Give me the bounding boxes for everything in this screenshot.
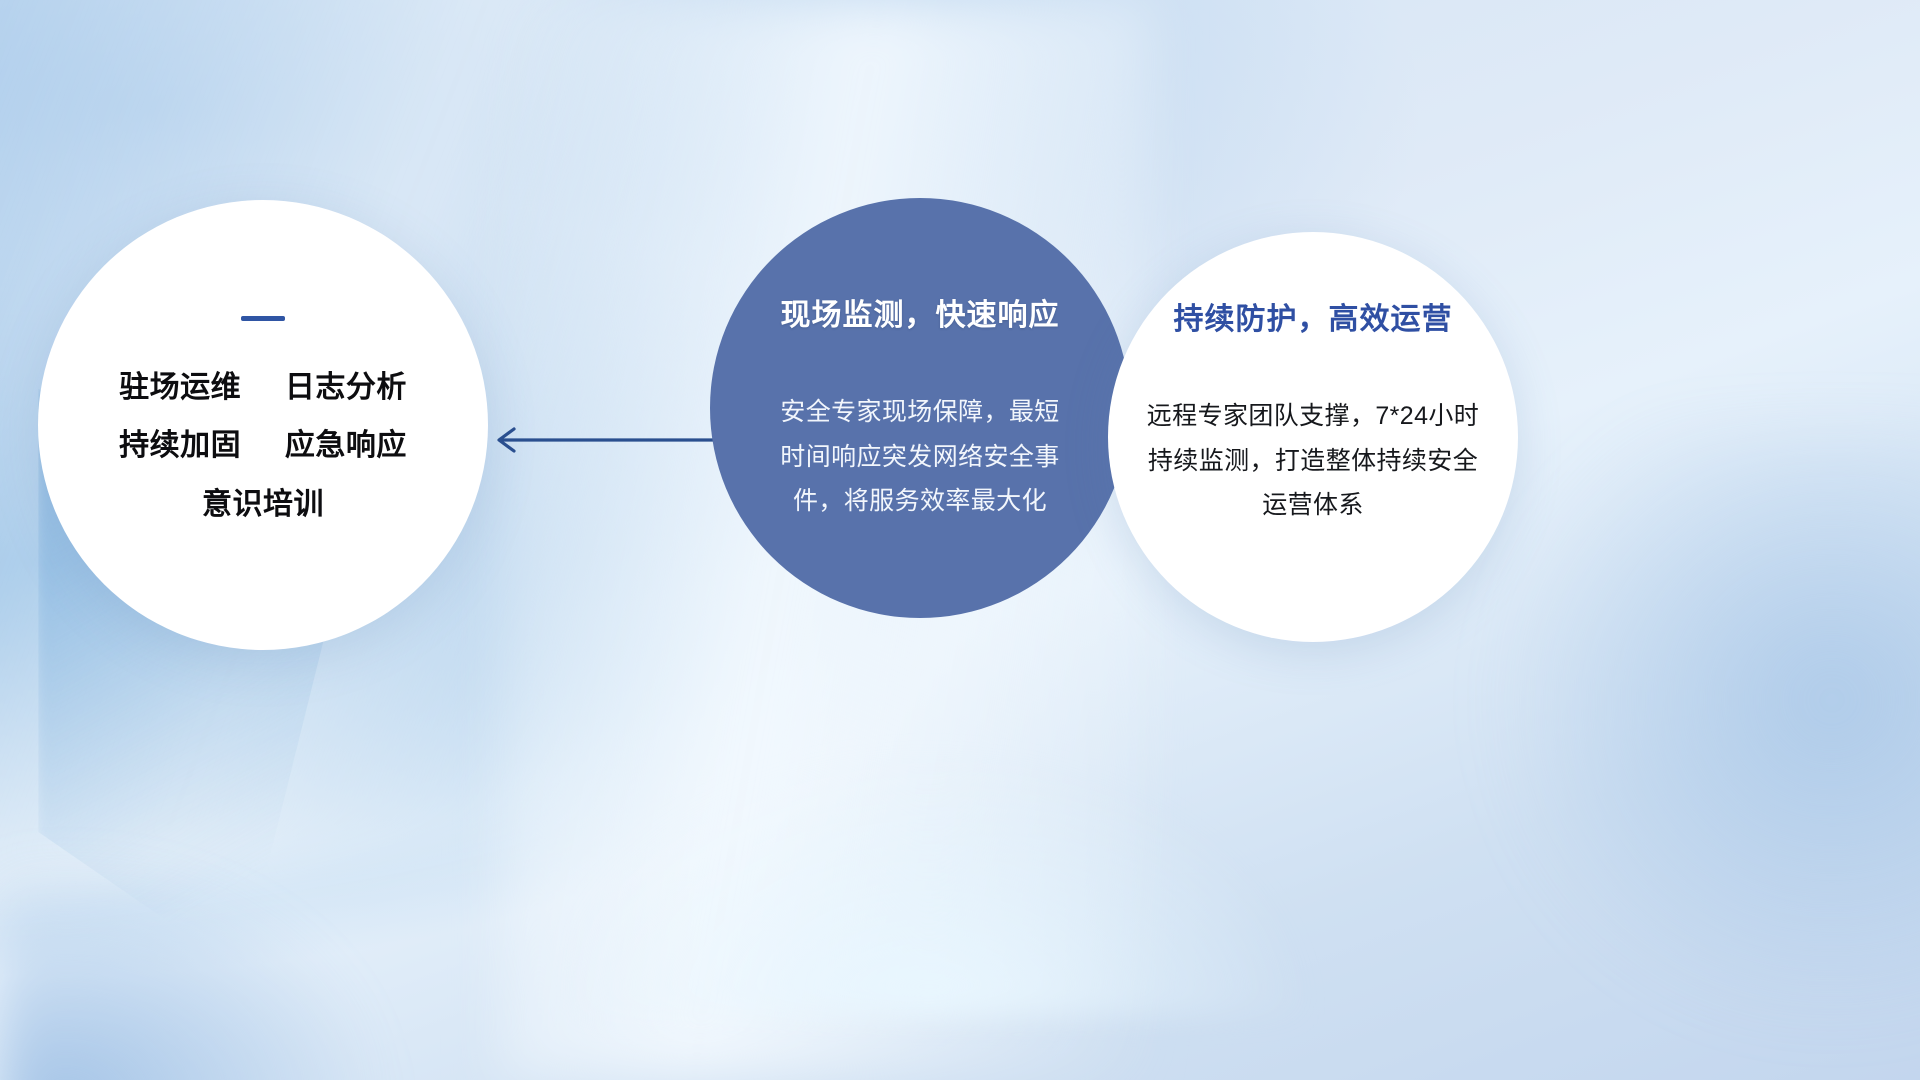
divider-dash [241,316,285,321]
diagram-canvas: 驻场运维 日志分析 持续加固 应急响应 意识培训 现场监测，快速响应 安全专家现… [0,0,1920,1080]
list-item: 意识培训 [119,476,407,534]
keyword-continuous-hardening: 持续加固 [119,429,241,462]
list-item: 持续加固 应急响应 [119,417,407,475]
keyword-awareness-training: 意识培训 [202,488,324,521]
arrow-left-icon [480,412,730,468]
keyword-onsite-ops: 驻场运维 [119,371,241,404]
node-title: 现场监测，快速响应 [781,290,1060,334]
node-continuous-protection[interactable]: 持续防护，高效运营 远程专家团队支撑，7*24小时持续监测，打造整体持续安全运营… [1108,232,1518,642]
keyword-log-analysis: 日志分析 [285,371,407,404]
keyword-emergency-response: 应急响应 [285,429,407,462]
capability-keyword-list: 驻场运维 日志分析 持续加固 应急响应 意识培训 [119,359,407,534]
node-onsite-monitoring[interactable]: 现场监测，快速响应 安全专家现场保障，最短时间响应突发网络安全事件，将服务效率最… [710,198,1130,618]
node-description: 安全专家现场保障，最短时间响应突发网络安全事件，将服务效率最大化 [774,390,1066,524]
node-description: 远程专家团队支撑，7*24小时持续监测，打造整体持续安全运营体系 [1139,394,1487,528]
node-capabilities[interactable]: 驻场运维 日志分析 持续加固 应急响应 意识培训 [38,200,488,650]
list-item: 驻场运维 日志分析 [119,359,407,417]
node-title: 持续防护，高效运营 [1174,294,1453,338]
